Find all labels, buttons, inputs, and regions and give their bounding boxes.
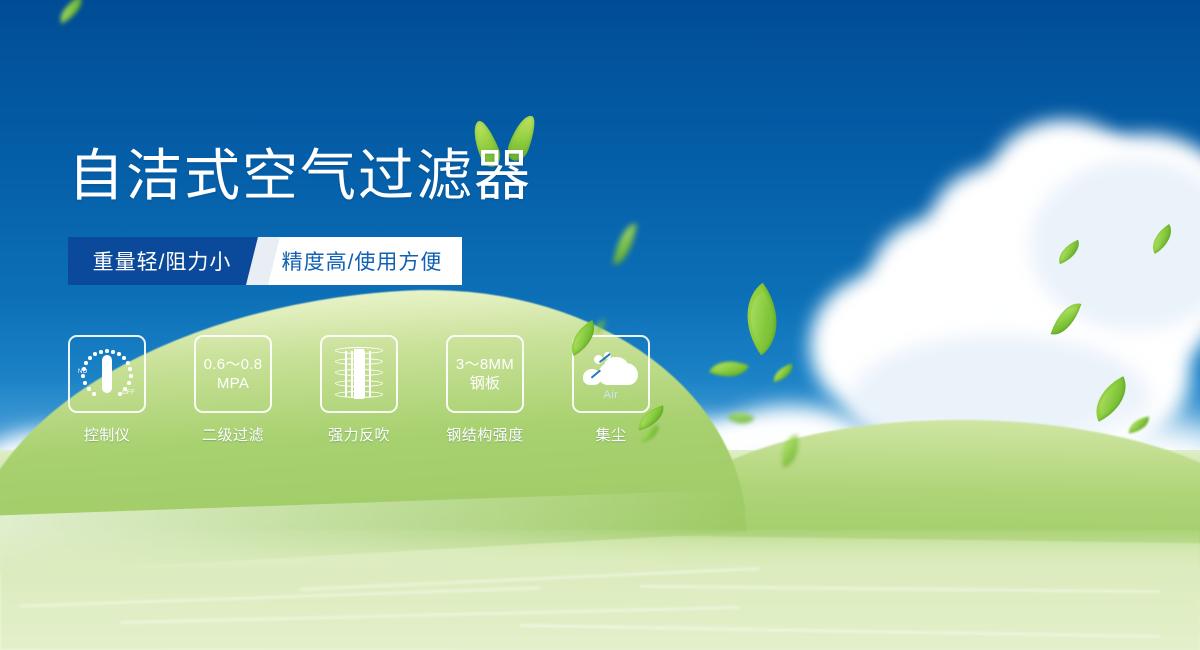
- steel-material: 钢板: [456, 374, 514, 393]
- pressure-text-icon: 0.6～0.8 MPA: [204, 355, 263, 393]
- feature-label: 二级过滤: [202, 424, 264, 445]
- subtitle-secondary-text: 精度高/使用方便: [282, 246, 443, 276]
- control-dial-icon: NO OFF: [79, 348, 135, 400]
- air-label: Air: [582, 389, 640, 401]
- feature-box: 3～8MM 钢板: [446, 335, 524, 413]
- feature-box: Air: [572, 335, 650, 413]
- leaf-icon: [709, 352, 749, 386]
- feature-box: [320, 335, 398, 413]
- feature-item-steel-strength[interactable]: 3～8MM 钢板 钢结构强度: [446, 335, 524, 445]
- pressure-value: 0.6～0.8: [204, 355, 263, 374]
- steel-thickness: 3～8MM: [456, 355, 514, 374]
- feature-label: 钢结构强度: [446, 424, 524, 445]
- leaf-icon: [727, 283, 797, 356]
- air-cloud-icon: Air: [582, 351, 640, 397]
- subtitle-panel-primary: 重量轻/阻力小: [68, 237, 258, 285]
- feature-row: NO OFF 控制仪 0.6～0.8 MPA 二级过滤: [68, 335, 650, 445]
- feature-box: NO OFF: [68, 335, 146, 413]
- page-title: 自洁式空气过滤器: [68, 148, 532, 204]
- feature-label: 控制仪: [84, 424, 131, 445]
- feature-item-control-instrument[interactable]: NO OFF 控制仪: [68, 335, 146, 445]
- feature-item-strong-backblow[interactable]: 强力反吹: [320, 335, 398, 445]
- leaf-icon: [771, 364, 796, 383]
- dial-label-off: OFF: [122, 390, 135, 396]
- leaf-icon: [54, 0, 88, 24]
- dial-needle: [102, 355, 112, 393]
- feature-item-secondary-filtration[interactable]: 0.6～0.8 MPA 二级过滤: [194, 335, 272, 445]
- feature-label: 强力反吹: [328, 424, 390, 445]
- steel-plate-text-icon: 3～8MM 钢板: [456, 355, 514, 393]
- pressure-unit: MPA: [204, 374, 263, 393]
- feature-label: 集尘: [595, 424, 626, 445]
- leaf-icon: [613, 221, 637, 267]
- dial-label-no: NO: [78, 369, 88, 375]
- subtitle-bar: 重量轻/阻力小 精度高/使用方便: [68, 237, 462, 285]
- subtitle-panel-secondary: 精度高/使用方便: [254, 237, 462, 285]
- feature-box: 0.6～0.8 MPA: [194, 335, 272, 413]
- product-banner: 自洁式空气过滤器 重量轻/阻力小 精度高/使用方便: [0, 0, 1200, 650]
- grass-field: [0, 450, 1200, 650]
- feature-item-dust-collection[interactable]: Air 集尘: [572, 335, 650, 445]
- cloud-right: [810, 120, 1200, 450]
- filter-cartridge-icon: [335, 347, 383, 401]
- subtitle-primary-text: 重量轻/阻力小: [93, 246, 232, 276]
